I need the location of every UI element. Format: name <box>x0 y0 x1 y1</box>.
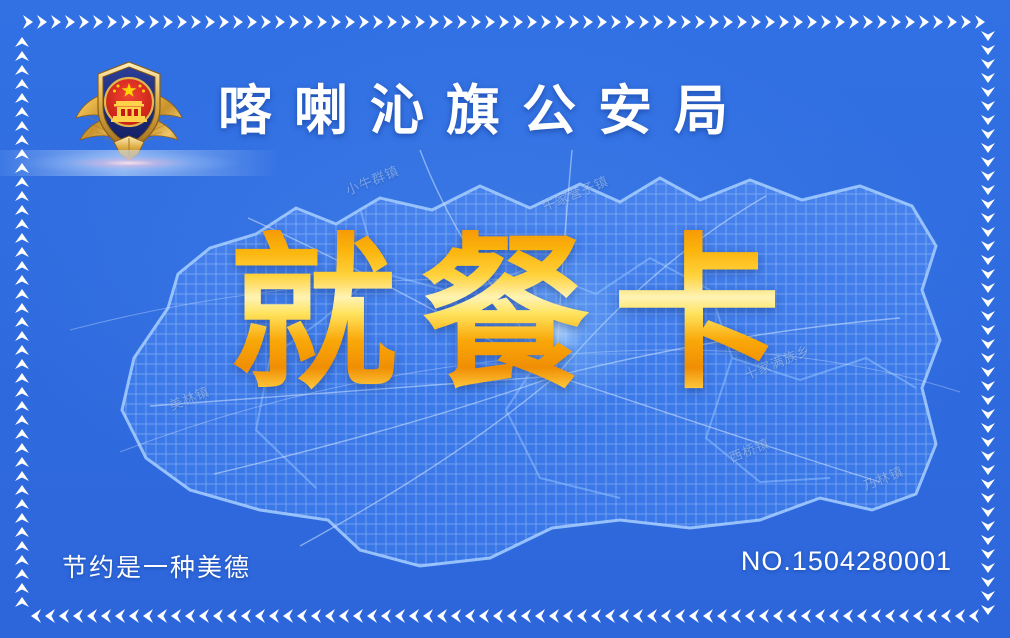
card-header: 喀喇沁旗公安局 <box>0 46 1010 176</box>
meal-card: 小牛群镇牛家营子镇美林镇十家满族乡西桥镇乃林镇 <box>0 0 1010 638</box>
police-badge-emblem <box>70 52 188 170</box>
organization-title: 喀喇沁旗公安局 <box>218 84 750 138</box>
card-main-title: 就餐卡 <box>0 230 1010 398</box>
slogan-text: 节约是一种美德 <box>62 548 251 584</box>
serial-number: NO.1504280001 <box>741 546 952 577</box>
